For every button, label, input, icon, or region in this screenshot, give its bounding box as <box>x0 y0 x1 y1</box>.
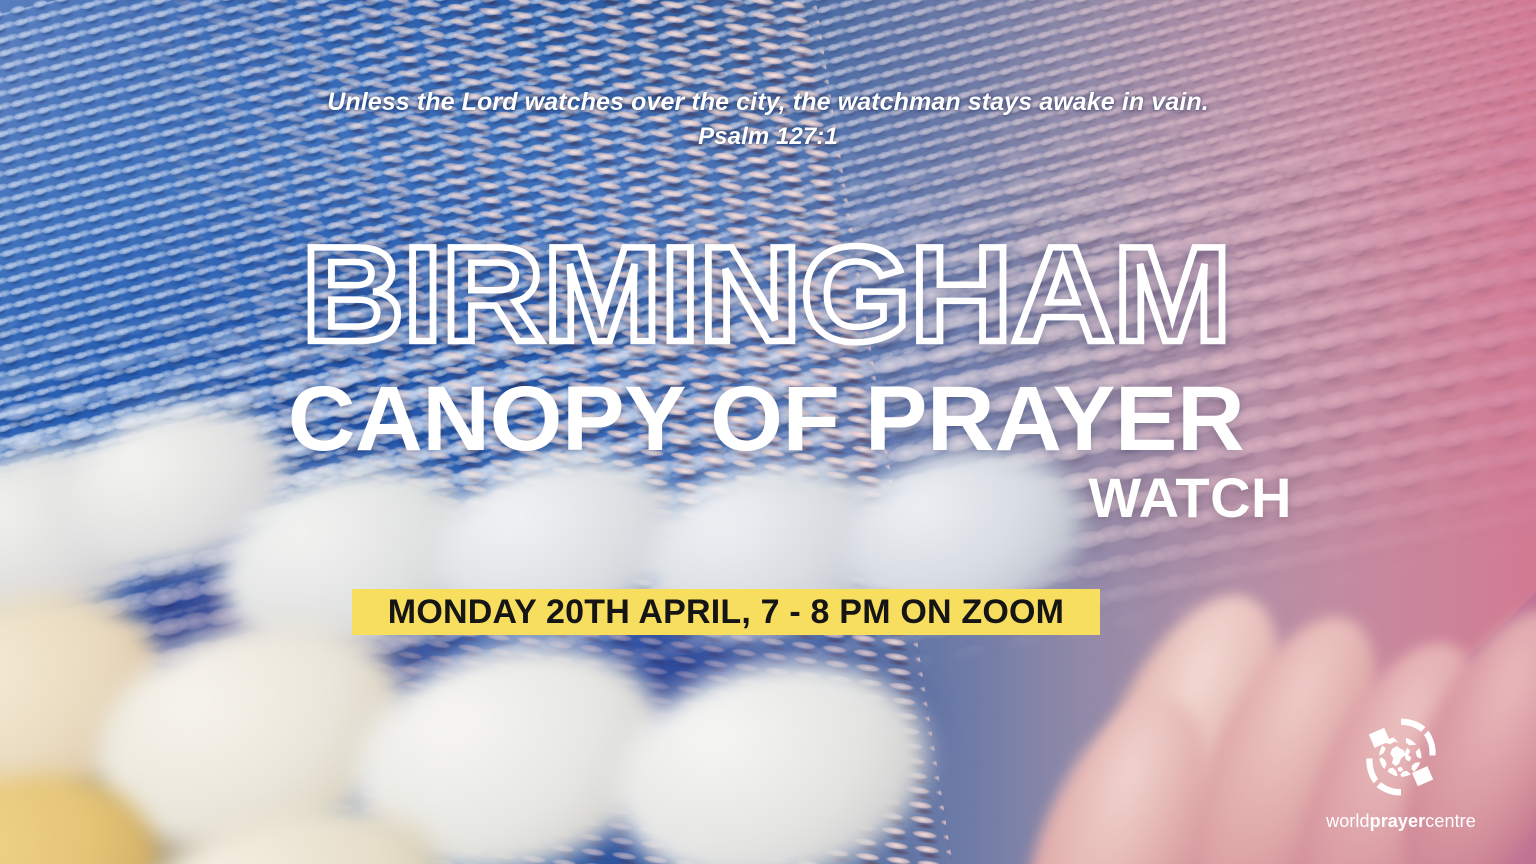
page-title-city: BIRMINGHAM <box>212 236 1320 353</box>
scripture-reference: Psalm 127:1 <box>0 120 1536 155</box>
logo: worldprayercentre <box>1306 709 1496 832</box>
title-block: BIRMINGHAM CANOPY OF PRAYER WATCH <box>236 236 1296 526</box>
scripture-quote: Unless the Lord watches over the city, t… <box>0 84 1536 155</box>
logo-word-world: world <box>1326 811 1370 831</box>
page-title-kicker: WATCH <box>236 470 1296 526</box>
globe-in-broken-ring-icon <box>1353 709 1449 805</box>
page-title-event: CANOPY OF PRAYER <box>225 377 1306 462</box>
logo-word-prayer: prayer <box>1370 811 1426 831</box>
poster-canvas: Unless the Lord watches over the city, t… <box>0 0 1536 864</box>
scripture-verse: Unless the Lord watches over the city, t… <box>327 88 1209 116</box>
logo-word-centre: centre <box>1425 811 1476 831</box>
logo-wordmark: worldprayercentre <box>1326 811 1476 832</box>
date-time-text: MONDAY 20TH APRIL, 7 - 8 PM ON ZOOM <box>388 593 1064 632</box>
date-time-banner: MONDAY 20TH APRIL, 7 - 8 PM ON ZOOM <box>352 589 1100 635</box>
